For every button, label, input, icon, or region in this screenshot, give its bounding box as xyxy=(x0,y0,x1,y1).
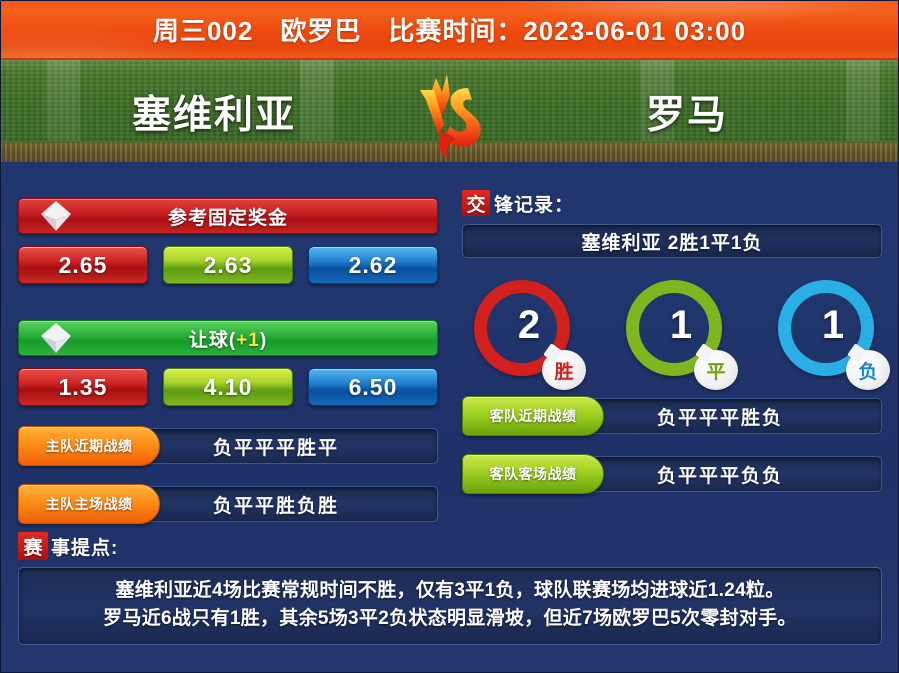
handicap-odd-button-draw[interactable]: 4.10 xyxy=(163,368,293,406)
odds-panel: 参考固定奖金 2.65 2.63 2.62 让球(+1) 1.35 4.10 6… xyxy=(18,162,438,522)
h2h-win-label: 胜 xyxy=(542,350,586,390)
match-tips-line-2: 罗马近6战只有1胜，其余5场3平2负状态明显滑坡，但近7场欧罗巴5次零封对手。 xyxy=(33,605,867,633)
match-tips-title: 事提点: xyxy=(51,533,118,560)
h2h-ring-win: 2 胜 xyxy=(474,280,570,376)
diamond-icon xyxy=(39,199,73,233)
h2h-ring-draw: 1 平 xyxy=(626,280,722,376)
home-home-form-tag: 主队主场战绩 xyxy=(18,484,160,524)
h2h-loss-label: 负 xyxy=(846,350,890,390)
h2h-ring-loss: 1 负 xyxy=(778,280,874,376)
head-to-head-summary-bar: 塞维利亚 2胜1平1负 xyxy=(462,224,882,258)
home-home-form-value: 负平平胜负胜 xyxy=(177,491,339,518)
head-to-head-summary: 塞维利亚 2胜1平1负 xyxy=(582,228,763,255)
fixed-odds-title-bar: 参考固定奖金 xyxy=(18,198,438,234)
home-recent-form-row: 负平平平胜平 主队近期战绩 xyxy=(18,428,438,464)
odd-button-draw[interactable]: 2.63 xyxy=(163,246,293,284)
away-away-form-tag: 客队客场战绩 xyxy=(462,454,604,494)
match-tips-badge: 赛 xyxy=(18,532,48,560)
diamond-icon xyxy=(39,321,73,355)
match-tips-section: 赛 事提点: 塞维利亚近4场比赛常规时间不胜，仅有3平1负，球队联赛场均进球近1… xyxy=(18,532,882,645)
head-to-head-title: 锋记录： xyxy=(494,190,574,217)
handicap-odd-button-away-win[interactable]: 6.50 xyxy=(308,368,438,406)
match-tips-body: 塞维利亚近4场比赛常规时间不胜，仅有3平1负，球队联赛场均进球近1.24粒。 罗… xyxy=(18,567,882,645)
handicap-odds-row: 1.35 4.10 6.50 xyxy=(18,368,438,406)
handicap-value: +1 xyxy=(236,330,260,351)
head-to-head-rings: 2 胜 1 平 1 负 xyxy=(462,280,882,376)
content-area: 参考固定奖金 2.65 2.63 2.62 让球(+1) 1.35 4.10 6… xyxy=(0,162,899,673)
match-tips-header: 赛 事提点: xyxy=(18,532,882,560)
away-recent-form-value: 负平平平胜负 xyxy=(621,403,783,430)
away-recent-form-row: 负平平平胜负 客队近期战绩 xyxy=(462,398,882,434)
head-to-head-badge: 交 xyxy=(462,190,490,216)
away-team-name: 罗马 xyxy=(646,84,728,140)
away-away-form-value: 负平平平负负 xyxy=(621,461,783,488)
head-to-head-header: 交 锋记录： xyxy=(462,190,882,216)
match-tips-line-1: 塞维利亚近4场比赛常规时间不胜，仅有3平1负，球队联赛场均进球近1.24粒。 xyxy=(33,577,867,605)
home-team-name: 塞维利亚 xyxy=(132,84,296,140)
fixed-odds-title: 参考固定奖金 xyxy=(168,203,288,230)
match-header-bar: 周三002 欧罗巴 比赛时间：2023-06-01 03:00 xyxy=(0,0,899,60)
handicap-title: 让球(+1) xyxy=(189,325,267,352)
match-preview-screen: 周三002 欧罗巴 比赛时间：2023-06-01 03:00 塞维利亚 罗马 xyxy=(0,0,899,673)
h2h-draw-label: 平 xyxy=(694,350,738,390)
odd-button-away-win[interactable]: 2.62 xyxy=(308,246,438,284)
handicap-title-suffix: ) xyxy=(260,330,267,351)
home-recent-form-value: 负平平平胜平 xyxy=(177,433,339,460)
away-recent-form-tag: 客队近期战绩 xyxy=(462,396,604,436)
away-away-form-row: 负平平平负负 客队客场战绩 xyxy=(462,456,882,492)
versus-icon xyxy=(406,70,492,160)
home-home-form-row: 负平平胜负胜 主队主场战绩 xyxy=(18,486,438,522)
odd-button-home-win[interactable]: 2.65 xyxy=(18,246,148,284)
handicap-title-prefix: 让球( xyxy=(189,330,236,351)
home-recent-form-tag: 主队近期战绩 xyxy=(18,426,160,466)
handicap-odd-button-home-win[interactable]: 1.35 xyxy=(18,368,148,406)
match-header-text: 周三002 欧罗巴 比赛时间：2023-06-01 03:00 xyxy=(153,11,746,48)
fixed-odds-row: 2.65 2.63 2.62 xyxy=(18,246,438,284)
handicap-title-bar: 让球(+1) xyxy=(18,320,438,356)
head-to-head-panel: 交 锋记录： 塞维利亚 2胜1平1负 2 胜 1 平 xyxy=(462,162,882,492)
